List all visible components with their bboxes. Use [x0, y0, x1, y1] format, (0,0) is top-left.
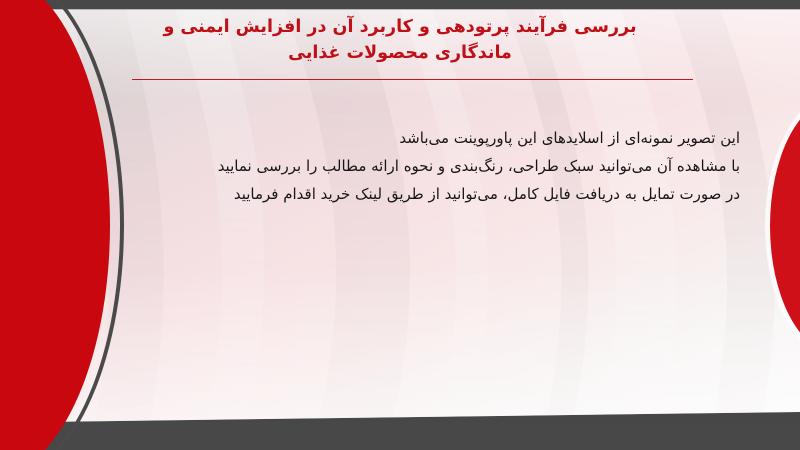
presentation-slide: بررسی فرآیند پرتودهی و کاربرد آن در افزا…	[0, 0, 800, 450]
slide-body-line-2: با مشاهده آن می‌توانید سبک طراحی، رنگ‌بن…	[50, 152, 740, 180]
slide-body-line-3: در صورت تمایل به دریافت فایل کامل، می‌تو…	[50, 180, 740, 208]
slide-body: این تصویر نمونه‌ای از اسلایدهای این پاور…	[50, 124, 740, 208]
slide-title-line-1: بررسی فرآیند پرتودهی و کاربرد آن در افزا…	[100, 14, 700, 40]
slide-title-line-2: ماندگاری محصولات غذایی	[100, 40, 700, 66]
dark-band-top	[0, 0, 800, 9]
red-horizontal-rule	[132, 79, 693, 80]
slide-body-line-1: این تصویر نمونه‌ای از اسلایدهای این پاور…	[50, 124, 740, 152]
dark-band-bottom	[0, 422, 800, 450]
slide-title: بررسی فرآیند پرتودهی و کاربرد آن در افزا…	[100, 14, 700, 66]
